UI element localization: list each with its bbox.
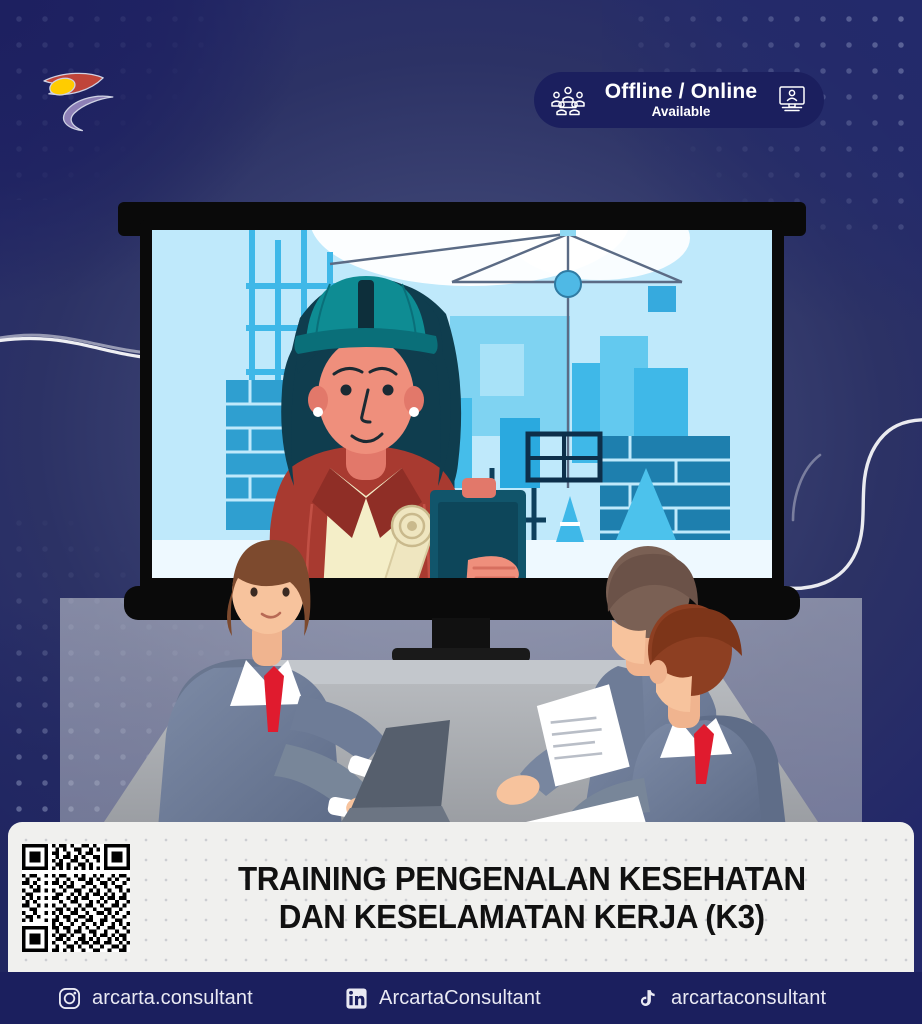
tiktok-icon bbox=[637, 987, 660, 1010]
k3-training-presentation-illustration bbox=[0, 168, 922, 828]
instagram-handle: arcarta.consultant bbox=[92, 987, 253, 1010]
arcarta-swoosh-logo bbox=[36, 58, 132, 136]
badge-main-label: Offline / Online bbox=[594, 81, 768, 102]
group-meeting-icon bbox=[550, 84, 586, 116]
social-instagram[interactable]: arcarta.consultant bbox=[58, 987, 253, 1010]
poster-canvas: Offline / Online Available bbox=[0, 0, 922, 1024]
social-tiktok[interactable]: arcartaconsultant bbox=[637, 987, 826, 1010]
qr-code[interactable] bbox=[22, 844, 130, 952]
availability-badge[interactable]: Offline / Online Available bbox=[534, 72, 824, 128]
tiktok-handle: arcartaconsultant bbox=[671, 987, 826, 1010]
social-linkedin[interactable]: ArcartaConsultant bbox=[345, 987, 541, 1010]
badge-sub-label: Available bbox=[594, 105, 768, 119]
page-title: TRAINING PENGENALAN KESEHATAN DAN KESELA… bbox=[148, 840, 896, 956]
title-line-1: TRAINING PENGENALAN KESEHATAN bbox=[238, 860, 806, 898]
title-card: TRAINING PENGENALAN KESEHATAN DAN KESELA… bbox=[8, 822, 914, 972]
title-line-2: DAN KESELAMATAN KERJA (K3) bbox=[279, 898, 765, 936]
social-footer: arcarta.consultant ArcartaConsultant arc… bbox=[0, 972, 922, 1024]
webinar-monitor-icon bbox=[776, 85, 808, 115]
badge-text-block: Offline / Online Available bbox=[594, 81, 768, 119]
linkedin-icon bbox=[345, 987, 368, 1010]
instagram-icon bbox=[58, 987, 81, 1010]
linkedin-handle: ArcartaConsultant bbox=[379, 987, 541, 1010]
